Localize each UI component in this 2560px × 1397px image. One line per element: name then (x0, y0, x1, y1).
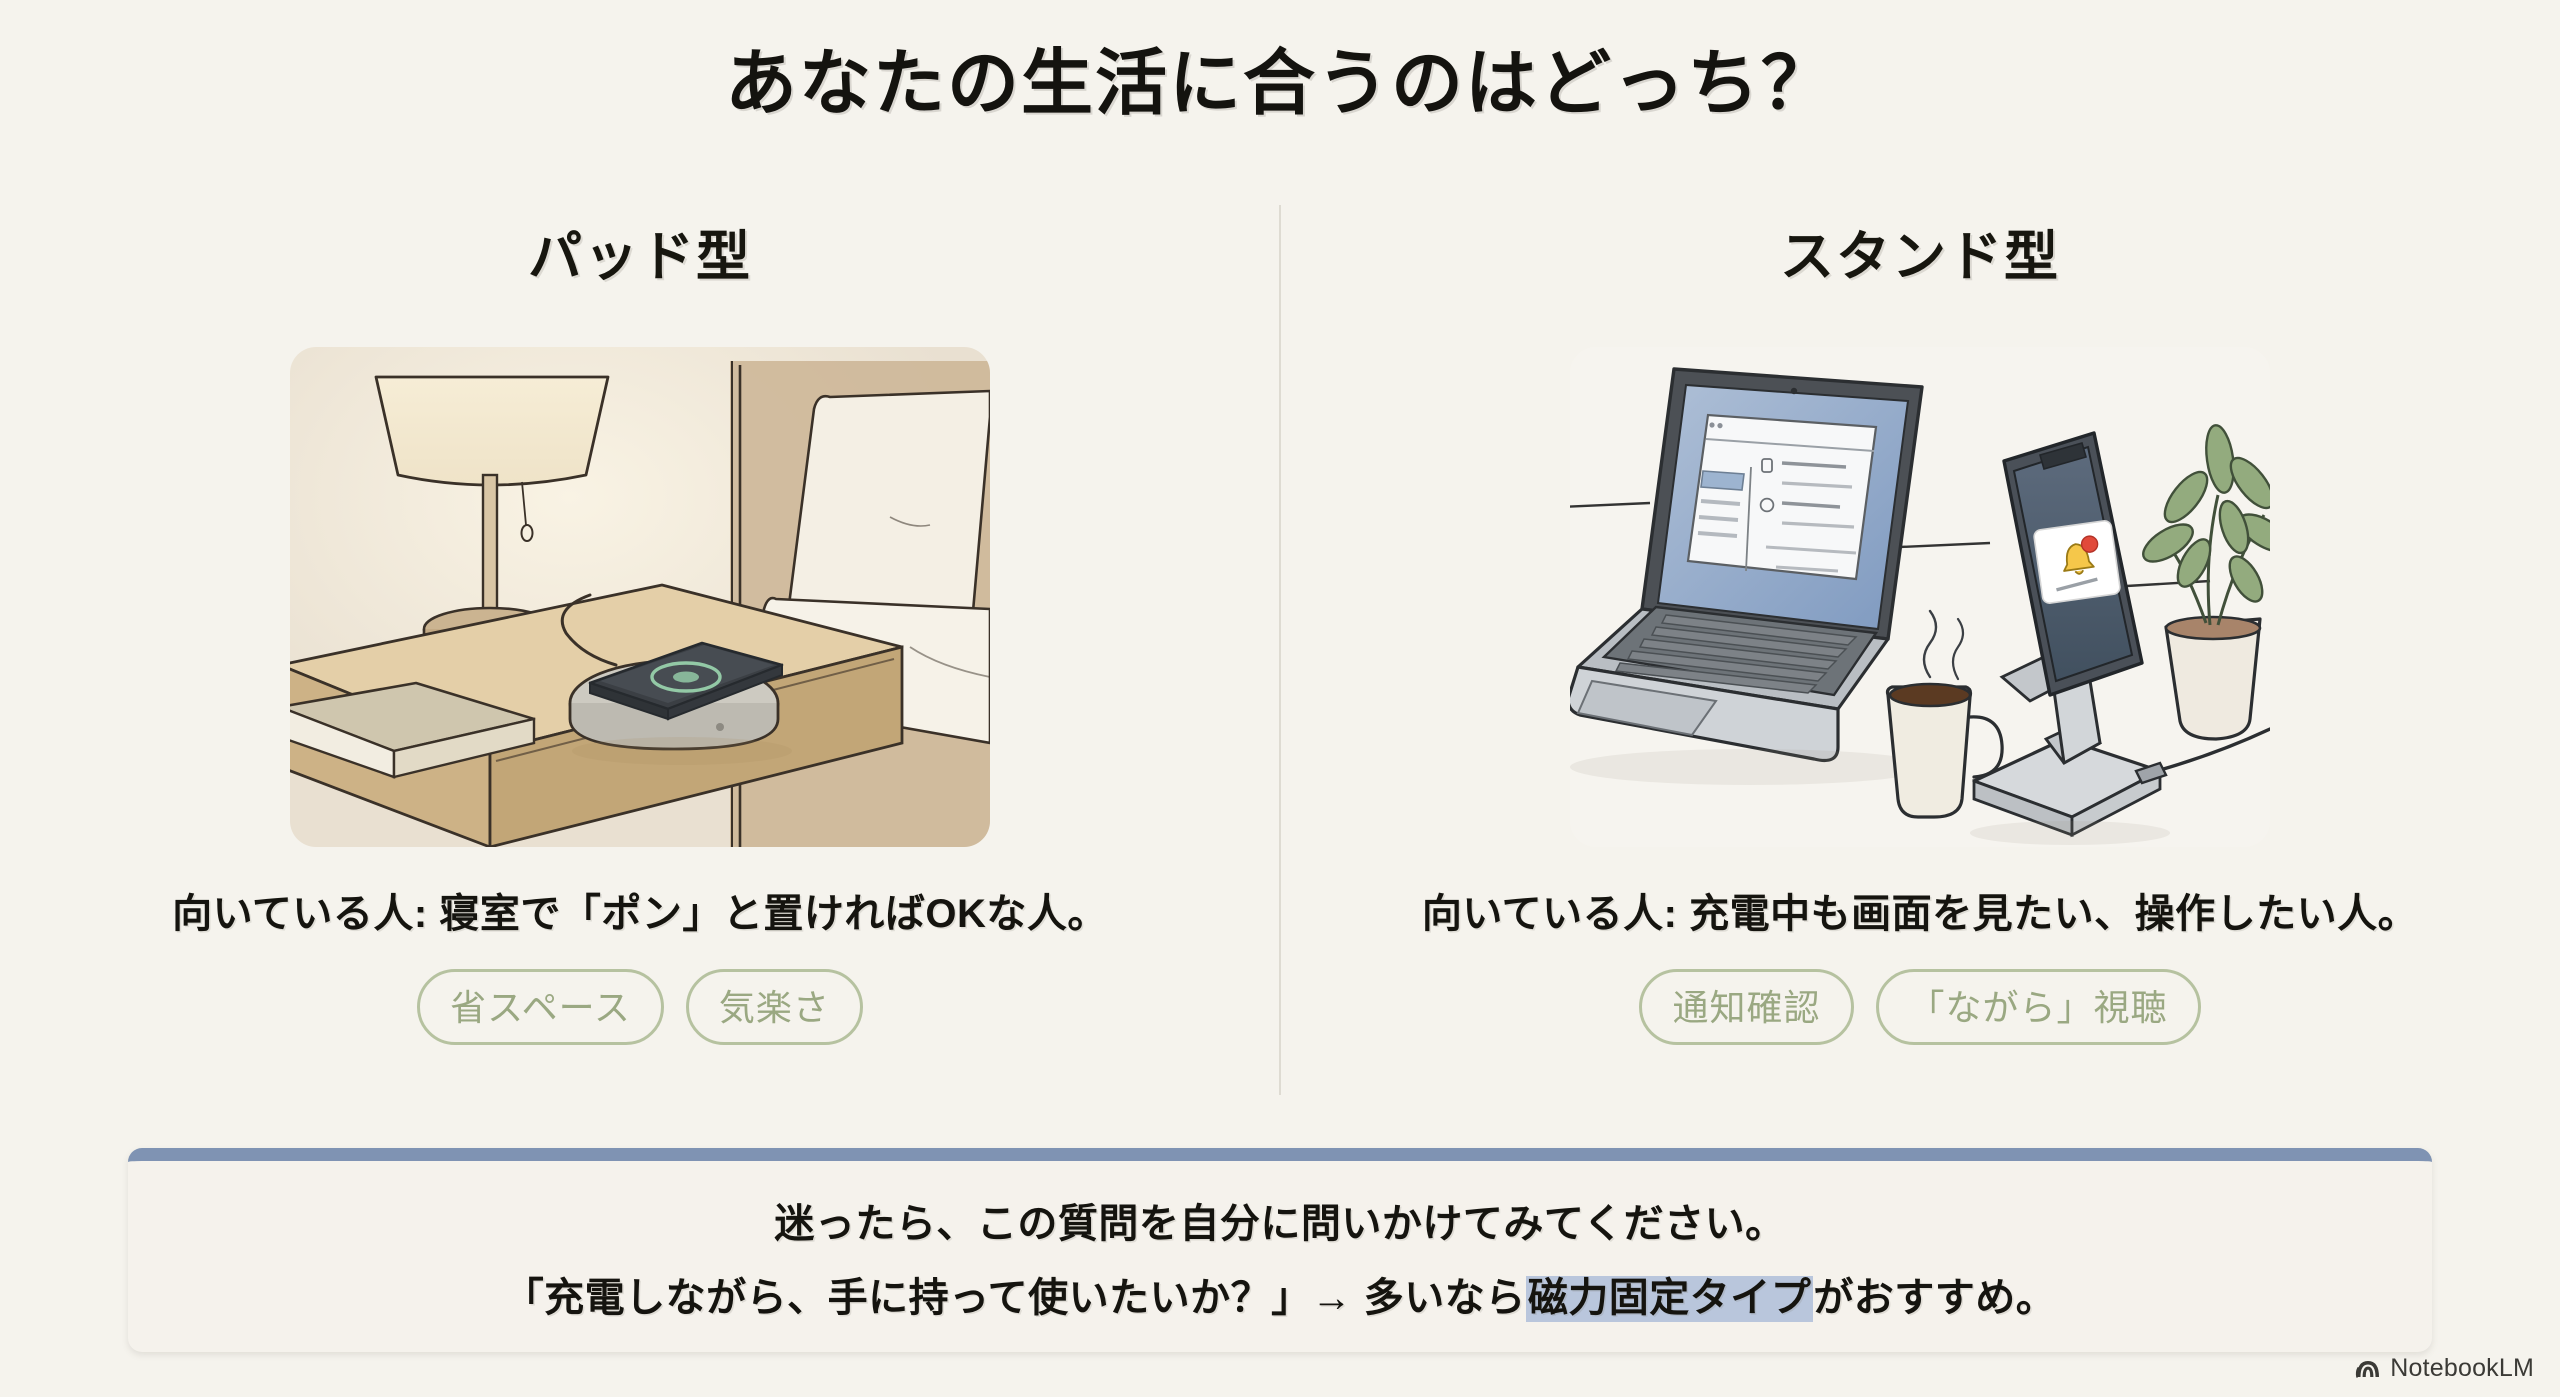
callout-line-1: 迷ったら、この質問を自分に問いかけてみてください。 (774, 1191, 1785, 1249)
notebooklm-label: NotebookLM (2390, 1354, 2534, 1383)
pill-tag[interactable]: 「ながら」視聴 (1876, 969, 2201, 1045)
column-heading-pad: パッド型 (520, 212, 760, 297)
callout-line-2: 「充電しながら、手に持って使いたいか？」→ 多いなら磁力固定タイプがおすすめ。 (504, 1265, 2057, 1323)
callout-line2-suffix: がおすすめ。 (1813, 1276, 2056, 1320)
column-caption-stand: 向いている人: 充電中も画面を見たい、操作したい人。 (1422, 881, 2418, 939)
pill-group-stand: 通知確認 「ながら」視聴 (1639, 969, 2200, 1045)
column-heading-label: パッド型 (528, 227, 752, 287)
pill-tag[interactable]: 通知確認 (1639, 969, 1853, 1045)
pill-tag[interactable]: 気楽さ (686, 969, 863, 1045)
column-stand-type: スタンド型 (1280, 190, 2560, 1100)
notebooklm-logo-icon (2355, 1359, 2381, 1379)
bedside-pad-charger-illustration (290, 347, 990, 847)
desk-stand-charger-illustration (1570, 347, 2270, 847)
callout-line2-prefix: 「充電しながら、手に持って使いたいか？」→ 多いなら (504, 1276, 1526, 1320)
page-title: あなたの生活に合うのはどっち？ (0, 24, 2560, 129)
pill-group-pad: 省スペース 気楽さ (417, 969, 863, 1045)
callout-box: 迷ったら、この質問を自分に問いかけてみてください。 「充電しながら、手に持って使… (128, 1148, 2432, 1352)
column-caption-pad: 向いている人: 寝室で「ポン」と置ければOKな人。 (172, 881, 1108, 939)
comparison-columns: パッド型 (0, 190, 2560, 1100)
slide-root: あなたの生活に合うのはどっち？ パッド型 (0, 0, 2560, 1397)
column-heading-stand: スタンド型 (1772, 212, 2068, 297)
notebooklm-watermark: NotebookLM (2355, 1354, 2534, 1383)
callout-highlight: 磁力固定タイプ (1526, 1276, 1814, 1322)
column-heading-label: スタンド型 (1780, 227, 2060, 287)
column-pad-type: パッド型 (0, 190, 1280, 1100)
pill-tag[interactable]: 省スペース (417, 969, 664, 1045)
